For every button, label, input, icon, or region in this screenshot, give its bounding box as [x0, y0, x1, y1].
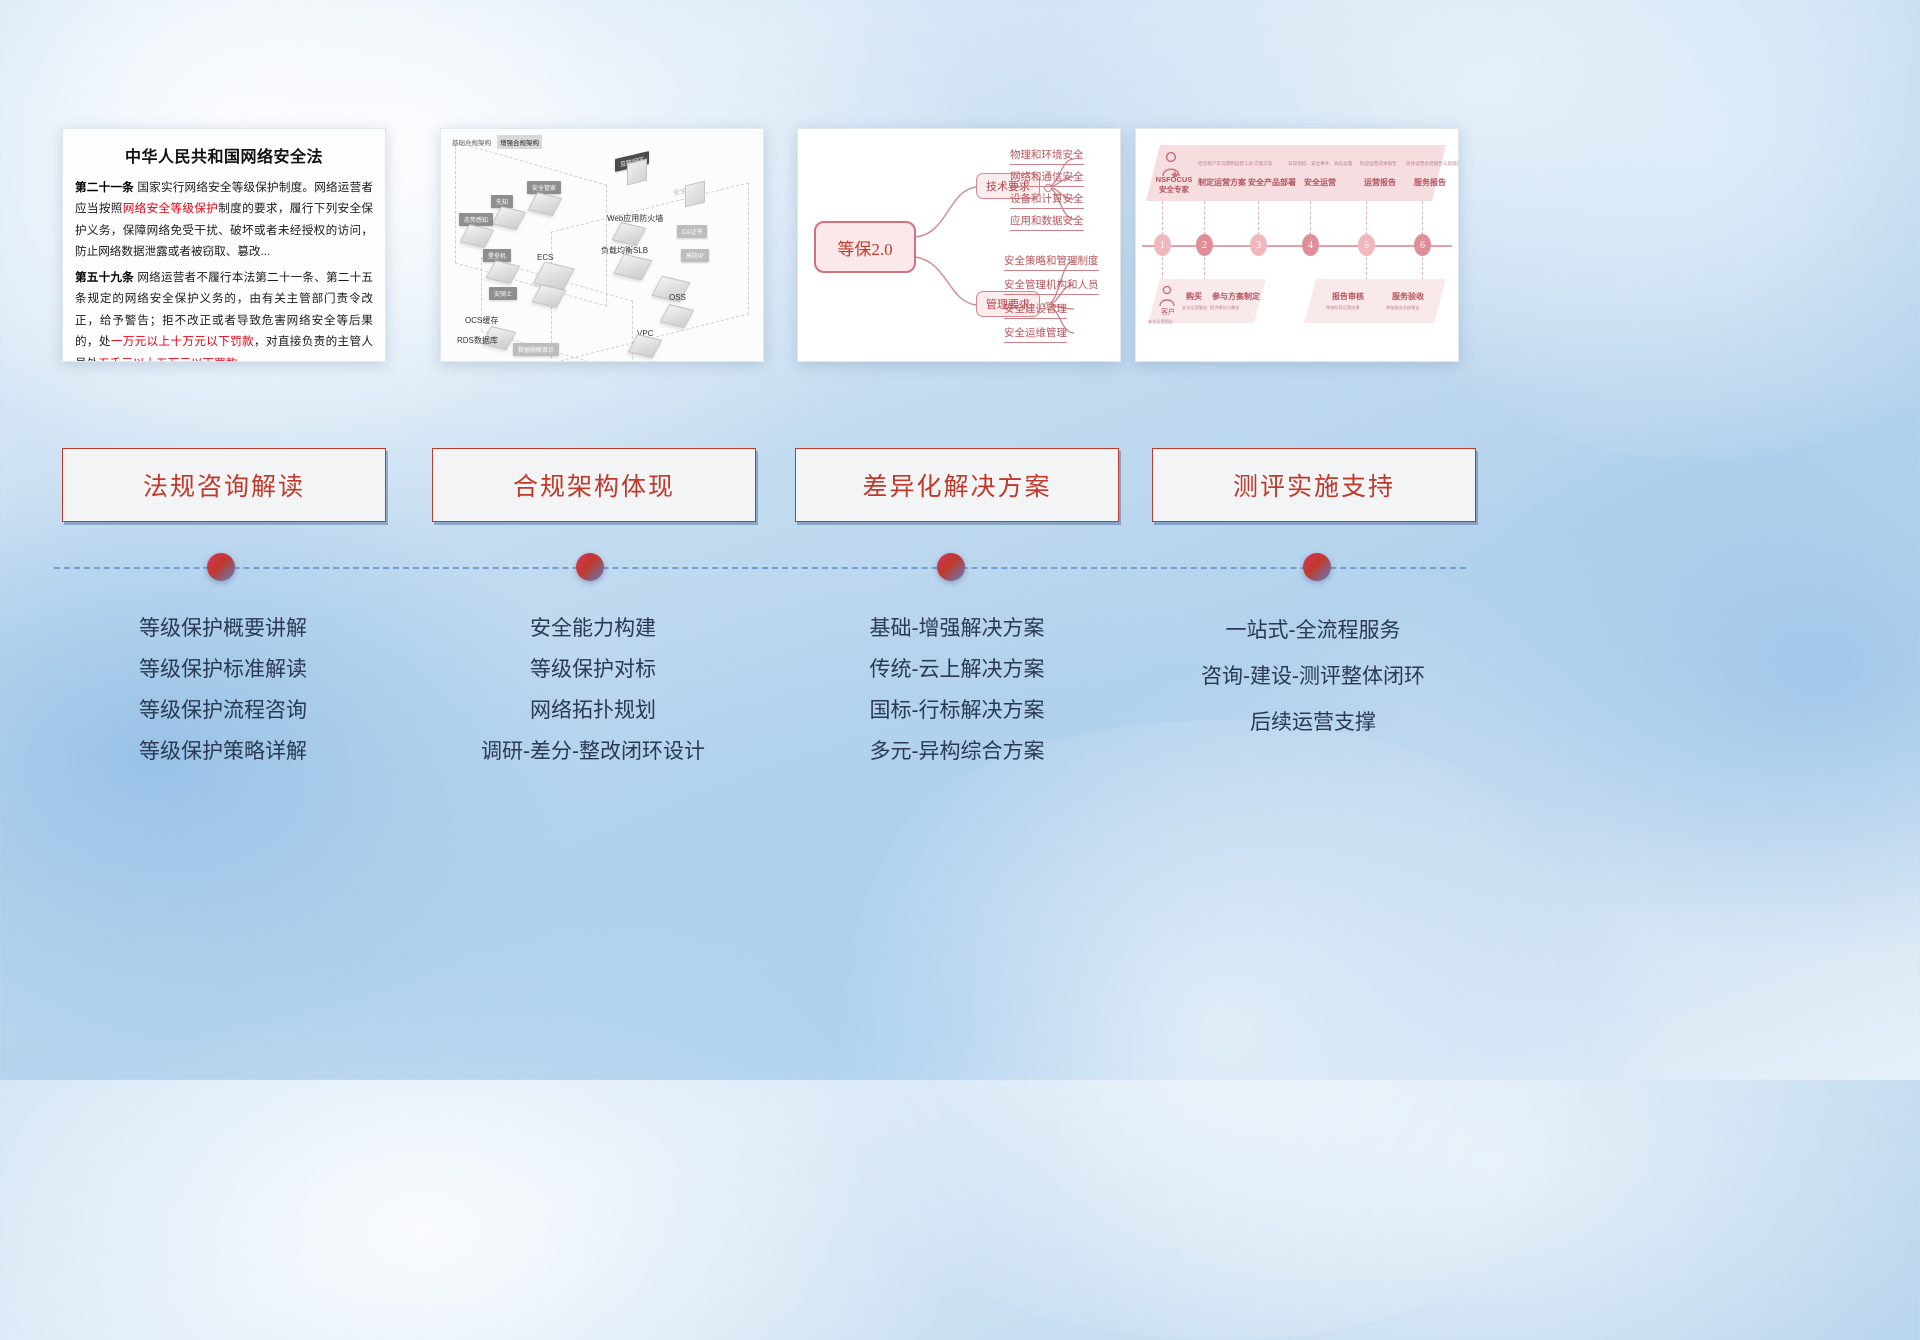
card-nsfocus-service-timeline[interactable]: NSFOCUS 安全专家 结合客户实况需明运营工具 制定运营方案 实施方案 安全…: [1135, 128, 1459, 362]
mindmap-leaf-policy[interactable]: 安全策略和管理制度: [1004, 253, 1099, 271]
architecture-chip-anqishi: 安骑士: [489, 287, 517, 300]
nsfocus-brand-label: NSFOCUS 安全专家: [1152, 175, 1196, 195]
list-item: 等级保护流程咨询: [53, 690, 393, 731]
law-body: 第二十一条 国家实行网络安全等级保护制度。网络运营者应当按照网络安全等级保护制度…: [63, 177, 385, 362]
architecture-label-rds: RDS数据库: [457, 335, 498, 346]
law-article-21: 第二十一条 国家实行网络安全等级保护制度。网络运营者应当按照网络安全等级保护制度…: [75, 177, 373, 263]
architecture-label-ocs: OCS缓存: [465, 315, 498, 326]
nsfocus-brand-name: NSFOCUS: [1152, 175, 1196, 185]
section-list-4: 一站式-全流程服务 咨询-建设-测评整体闭环 后续运营支撑: [1143, 608, 1483, 745]
nsfocus-bottom-1-top: 购买: [1186, 291, 1202, 302]
nsfocus-step-marker-1[interactable]: 1: [1154, 234, 1171, 256]
nsfocus-step-5-top: 运营报告: [1364, 177, 1396, 188]
architecture-chip-audit: 数据脱敏审计: [513, 343, 559, 356]
card-compliance-architecture[interactable]: 基础合规架构 增强合规架构 互联网区 安全区 安全管家 先知 态势感知 堡垒机 …: [440, 128, 764, 362]
nsfocus-step-marker-3[interactable]: 3: [1250, 234, 1267, 256]
section-list-2: 安全能力构建 等级保护对标 网络拓扑规划 调研-差分-整改闭环设计: [423, 608, 763, 773]
mindmap-leaf-construction[interactable]: 安全建设管理: [1004, 301, 1067, 319]
nsfocus-lead-2: [1204, 201, 1206, 235]
nsfocus-lead-5: [1366, 201, 1368, 235]
law-title: 中华人民共和国网络安全法: [63, 143, 385, 167]
nsfocus-bottom-3-top: 报告审核: [1332, 291, 1364, 302]
list-item: 一站式-全流程服务: [1143, 608, 1483, 654]
law-article-21-highlight: 网络安全等级保护: [123, 202, 218, 215]
architecture-server-1: [627, 159, 647, 186]
list-item: 国标-行标解决方案: [787, 690, 1127, 731]
background-glow-bottom: [768, 720, 1668, 1340]
nsfocus-bottom-3-sub: 审核阶段运营成果: [1326, 305, 1360, 311]
section-button-label-4: 测评实施支持: [1233, 467, 1395, 503]
nsfocus-bottom-1-sub: 安全运营服务: [1182, 305, 1207, 311]
architecture-label-waf: Web应用防火墙: [607, 213, 663, 224]
mindmap-leaf-application[interactable]: 应用和数据安全: [1010, 213, 1084, 231]
nsfocus-step-4-top: 安全运营: [1304, 177, 1336, 188]
nsfocus-step-2-sub: 结合客户实况需明运营工具: [1198, 161, 1253, 167]
architecture-chip-situational: 态势感知: [459, 213, 493, 226]
section-list-3: 基础-增强解决方案 传统-云上解决方案 国标-行标解决方案 多元-异构综合方案: [787, 608, 1127, 773]
nsfocus-bottom-2-top: 参与方案制定: [1212, 291, 1260, 302]
law-article-59-highlight-2: 五千元以上五万元以下罚款。: [98, 357, 249, 363]
mindmap-leaf-operation[interactable]: 安全运维管理: [1004, 325, 1067, 343]
law-article-59: 第五十九条 网络运营者不履行本法第二十一条、第二十五条规定的网络安全保护义务的，…: [75, 267, 373, 362]
architecture-diagram: 基础合规架构 增强合规架构 互联网区 安全区 安全管家 先知 态势感知 堡垒机 …: [441, 129, 763, 361]
card-mindmap-dengbao[interactable]: 等保2.0 技术要求 管理要求 物理和环境安全 网络和通信安全 设备和计算安全 …: [797, 128, 1121, 362]
mindmap-leaf-org[interactable]: 安全管理机构和人员: [1004, 277, 1099, 295]
nsfocus-customer-sub: 安全运营团队: [1148, 319, 1173, 325]
expert-person-icon: [1160, 151, 1182, 177]
nsfocus-step-marker-4[interactable]: 4: [1302, 234, 1319, 256]
section-button-label-3: 差异化解决方案: [862, 467, 1051, 503]
timeline-dashed-line: [54, 567, 1466, 569]
nsfocus-timeline: NSFOCUS 安全专家 结合客户实况需明运营工具 制定运营方案 实施方案 安全…: [1136, 129, 1458, 361]
list-item: 安全能力构建: [423, 608, 763, 649]
preview-cards-row: 中华人民共和国网络安全法 第二十一条 国家实行网络安全等级保护制度。网络运营者应…: [0, 128, 1920, 360]
mindmap-root-node[interactable]: 等保2.0: [814, 221, 916, 273]
nsfocus-step-marker-6[interactable]: 6: [1414, 234, 1431, 256]
law-article-59-highlight-1: 一万元以上十万元以下罚款: [111, 335, 254, 348]
nsfocus-step-3-top: 安全产品部署: [1248, 177, 1296, 188]
nsfocus-bottom-2-sub: 提供建议与需求: [1210, 305, 1239, 311]
section-button-label-2: 合规架构体现: [513, 467, 675, 503]
nsfocus-bottom-4-top: 服务验收: [1392, 291, 1424, 302]
mindmap-leaf-physical[interactable]: 物理和环境安全: [1010, 147, 1084, 165]
list-item: 等级保护标准解读: [53, 649, 393, 690]
section-button-label-1: 法规咨询解读: [143, 467, 305, 503]
law-article-59-label: 第五十九条: [75, 271, 134, 284]
nsfocus-step-marker-2[interactable]: 2: [1196, 234, 1213, 256]
nsfocus-brand-sub: 安全专家: [1152, 185, 1196, 195]
nsfocus-step-4-sub: 日常巡检、安全事件、高危处置: [1288, 161, 1352, 167]
section-button-differentiated-solution[interactable]: 差异化解决方案: [795, 448, 1119, 522]
nsfocus-customer-label: 客户: [1154, 307, 1182, 317]
law-article-21-label: 第二十一条: [75, 181, 134, 194]
section-button-regulation-consulting[interactable]: 法规咨询解读: [62, 448, 386, 522]
list-item: 等级保护策略详解: [53, 731, 393, 772]
nsfocus-lead-1: [1162, 201, 1164, 235]
nsfocus-step-6-sub: 总体运营总结报告与后续建议: [1406, 161, 1459, 167]
section-button-compliance-architecture[interactable]: 合规架构体现: [432, 448, 756, 522]
architecture-chip-antiddos: 高防IP: [681, 249, 709, 262]
timeline-dot-4[interactable]: [1303, 553, 1331, 581]
timeline-dot-1[interactable]: [207, 553, 235, 581]
list-item: 调研-差分-整改闭环设计: [423, 731, 763, 772]
nsfocus-bottom-band-right: [1304, 279, 1446, 323]
nsfocus-lead-4: [1310, 201, 1312, 235]
architecture-tab-enhanced[interactable]: 增强合规架构: [497, 135, 542, 149]
section-list-1: 等级保护概要讲解 等级保护标准解读 等级保护流程咨询 等级保护策略详解: [53, 608, 393, 773]
list-item: 咨询-建设-测评整体闭环: [1143, 654, 1483, 700]
mindmap: 等保2.0 技术要求 管理要求 物理和环境安全 网络和通信安全 设备和计算安全 …: [798, 129, 1120, 361]
mindmap-leaf-network[interactable]: 网络和通信安全: [1010, 169, 1084, 187]
list-item: 后续运营支撑: [1143, 700, 1483, 746]
card-cybersecurity-law[interactable]: 中华人民共和国网络安全法 第二十一条 国家实行网络安全等级保护制度。网络运营者应…: [62, 128, 386, 362]
architecture-chip-ca: CA证书: [677, 225, 707, 238]
nsfocus-bottom-4-sub: 审核服务总体报告: [1386, 305, 1420, 311]
nsfocus-step-6-top: 服务报告: [1414, 177, 1446, 188]
timeline-dot-3[interactable]: [937, 553, 965, 581]
nsfocus-step-3-sub: 实施方案: [1254, 161, 1272, 167]
architecture-chip-security-butler: 安全管家: [527, 181, 561, 194]
nsfocus-step-marker-5[interactable]: 5: [1358, 234, 1375, 256]
nsfocus-step-2-top: 制定运营方案: [1198, 177, 1246, 188]
nsfocus-lead-6: [1422, 201, 1424, 235]
list-item: 等级保护概要讲解: [53, 608, 393, 649]
section-button-assessment-support[interactable]: 测评实施支持: [1152, 448, 1476, 522]
list-item: 传统-云上解决方案: [787, 649, 1127, 690]
timeline-dot-2[interactable]: [576, 553, 604, 581]
list-item: 等级保护对标: [423, 649, 763, 690]
architecture-label-oss: OSS: [669, 293, 686, 302]
nsfocus-axis-line: [1142, 245, 1452, 247]
nsfocus-lead-3: [1258, 201, 1260, 235]
list-item: 多元-异构综合方案: [787, 731, 1127, 772]
customer-person-icon: [1158, 285, 1176, 307]
list-item: 网络拓扑规划: [423, 690, 763, 731]
nsfocus-step-5-sub: 阶段运营成果报告: [1360, 161, 1397, 167]
mindmap-leaf-device[interactable]: 设备和计算安全: [1010, 191, 1084, 209]
list-item: 基础-增强解决方案: [787, 608, 1127, 649]
